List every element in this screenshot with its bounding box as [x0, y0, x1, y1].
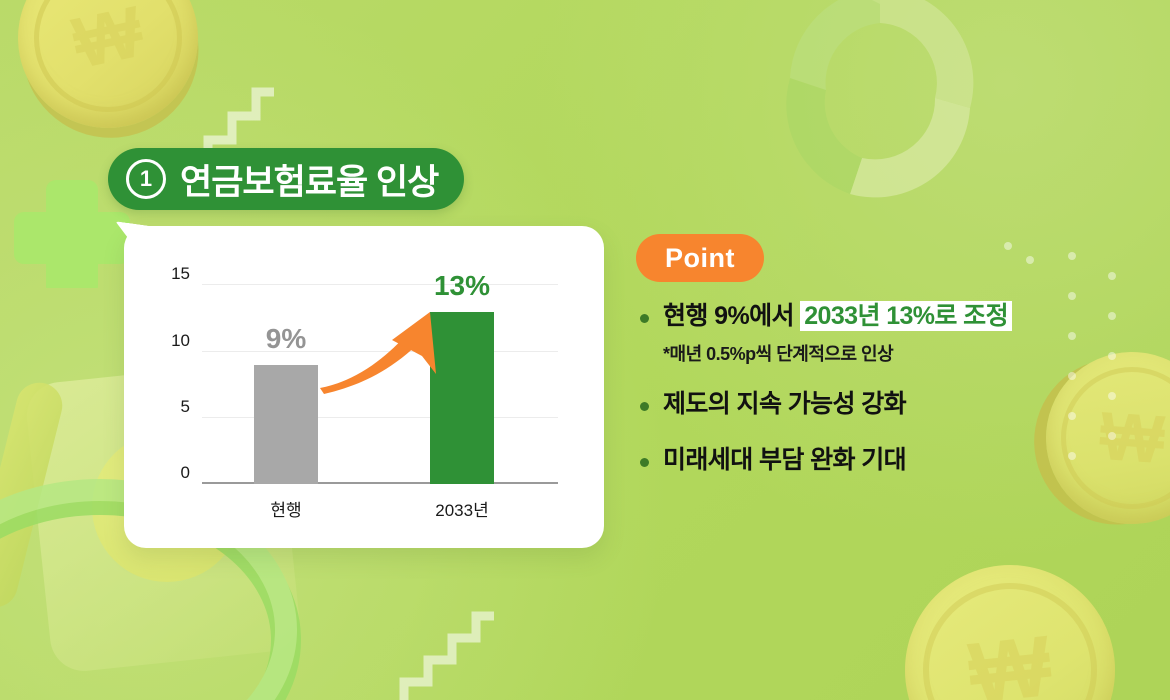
x-axis-label-current: 현행 [270, 496, 301, 521]
bullet-text-1: 현행 9%에서 2033년 13%로 조정 [663, 300, 1012, 334]
list-item: 미래세대 부담 완화 기대 [640, 444, 1140, 478]
bar-chart-plot: 051015 9% 13% 현행 2033년 [202, 272, 558, 484]
bar-value-current: 9% [266, 323, 306, 355]
dots-pattern-icon [1000, 238, 1040, 278]
section-title-banner: 1 연금보험료율 인상 [108, 148, 464, 210]
y-axis-tick-label: 5 [181, 397, 190, 417]
bullet-text-2: 제도의 지속 가능성 강화 [663, 388, 906, 422]
speech-bubble-tail [109, 221, 159, 271]
bar-value-target: 13% [434, 270, 490, 302]
bullet-text-3: 미래세대 부담 완화 기대 [663, 444, 906, 478]
point-badge: Point [636, 234, 764, 282]
won-coin-icon: ₩ [895, 555, 1126, 700]
point-badge-label: Point [665, 243, 735, 274]
soft-bar-shape [0, 378, 67, 612]
bullet-list: 현행 9%에서 2033년 13%로 조정 *매년 0.5%p씩 단계적으로 인… [640, 300, 1140, 483]
recycle-arrows-icon [730, 0, 1030, 208]
chart-card: 051015 9% 13% 현행 2033년 [124, 226, 604, 548]
bar-current [254, 365, 318, 484]
bullet-dot-icon [640, 458, 649, 467]
bullet-dot-icon [640, 402, 649, 411]
y-axis-tick-label: 0 [181, 463, 190, 483]
bullet-dot-icon [640, 314, 649, 323]
growth-arrow-icon [318, 310, 448, 396]
y-axis-tick-label: 15 [171, 264, 190, 284]
section-number-badge: 1 [126, 159, 166, 199]
list-item: 현행 9%에서 2033년 13%로 조정 [640, 300, 1140, 334]
bullet-subnote-1: *매년 0.5%p씩 단계적으로 인상 [663, 340, 1140, 366]
list-item: 제도의 지속 가능성 강화 [640, 388, 1140, 422]
page-title: 연금보험료율 인상 [180, 154, 438, 205]
bullet-prefix-1: 현행 9%에서 [663, 302, 800, 330]
bullet-highlight-1: 2033년 13%로 조정 [800, 301, 1012, 331]
y-axis-tick-label: 10 [171, 331, 190, 351]
infographic-canvas: ₩ ₩ ₩ 1 연금보험료율 인상 [0, 0, 1170, 700]
gridline [202, 284, 558, 285]
won-coin-icon: ₩ [1, 0, 214, 145]
stairs-pattern-icon [398, 598, 494, 700]
x-axis-label-target: 2033년 [435, 496, 488, 521]
